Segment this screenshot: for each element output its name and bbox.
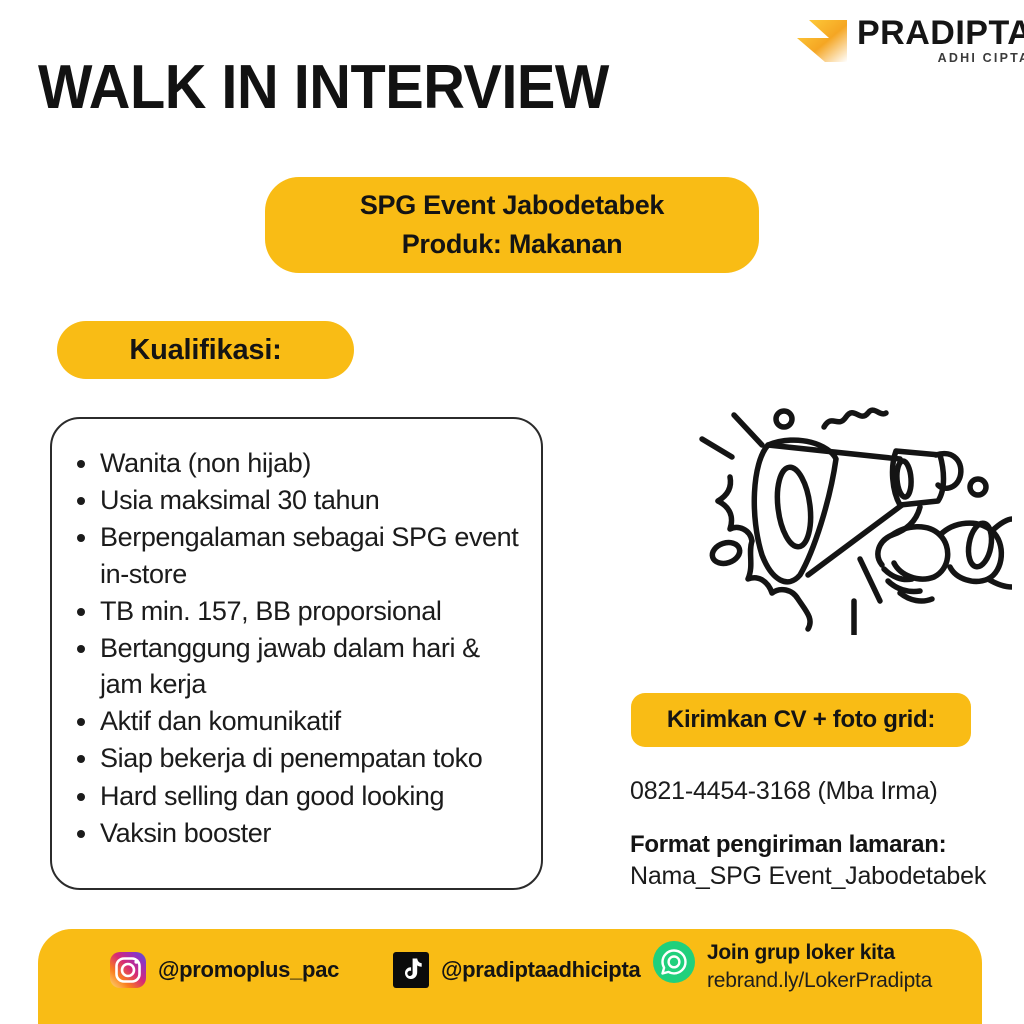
role-line-2: Produk: Makanan (402, 225, 623, 264)
job-poster: PRADIPTA ADHI CIPTA WALK IN INTERVIEW SP… (0, 0, 1024, 1024)
page-title: WALK IN INTERVIEW (38, 57, 609, 119)
instagram-handle: @promoplus_pac (158, 957, 339, 983)
list-item: Bertanggung jawab dalam hari & jam kerja (100, 630, 523, 702)
qualifications-box: Wanita (non hijab) Usia maksimal 30 tahu… (50, 417, 543, 890)
contact-phone: 0821-4454-3168 (Mba Irma) (630, 777, 938, 806)
pradipta-arrow-icon (795, 18, 853, 64)
list-item: Usia maksimal 30 tahun (100, 482, 523, 518)
list-item: Aktif dan komunikatif (100, 703, 523, 739)
whatsapp-link: rebrand.ly/LokerPradipta (707, 969, 932, 993)
instagram-link[interactable]: @promoplus_pac (110, 952, 339, 988)
role-line-1: SPG Event Jabodetabek (360, 186, 664, 225)
list-item: Vaksin booster (100, 815, 523, 851)
list-item: Siap bekerja di penempatan toko (100, 740, 523, 776)
whatsapp-icon (653, 941, 695, 983)
logo-tagline: ADHI CIPTA (857, 52, 1024, 65)
list-item: Berpengalaman sebagai SPG event in-store (100, 519, 523, 591)
role-banner: SPG Event Jabodetabek Produk: Makanan (265, 177, 759, 273)
footer-bar: @promoplus_pac @pradiptaadhicipta Join g… (38, 929, 982, 1024)
list-item: Wanita (non hijab) (100, 445, 523, 481)
list-item: TB min. 157, BB proporsional (100, 593, 523, 629)
qualifications-heading: Kualifikasi: (57, 321, 354, 379)
tiktok-link[interactable]: @pradiptaadhicipta (393, 952, 640, 988)
logo-wordmark: PRADIPTA (857, 16, 1024, 50)
tiktok-icon (393, 952, 429, 988)
company-logo: PRADIPTA ADHI CIPTA (795, 16, 1010, 74)
format-heading: Format pengiriman lamaran: (630, 831, 946, 859)
qualifications-list: Wanita (non hijab) Usia maksimal 30 tahu… (52, 419, 541, 851)
cv-heading-banner: Kirimkan CV + foto grid: (631, 693, 971, 747)
whatsapp-title: Join grup loker kita (707, 941, 932, 965)
tiktok-handle: @pradiptaadhicipta (441, 957, 640, 983)
megaphone-icon (688, 383, 1012, 635)
instagram-icon (110, 952, 146, 988)
list-item: Hard selling dan good looking (100, 778, 523, 814)
format-example: Nama_SPG Event_Jabodetabek (630, 862, 986, 891)
whatsapp-group-link[interactable]: Join grup loker kita rebrand.ly/LokerPra… (653, 941, 932, 993)
whatsapp-text-block: Join grup loker kita rebrand.ly/LokerPra… (707, 941, 932, 993)
